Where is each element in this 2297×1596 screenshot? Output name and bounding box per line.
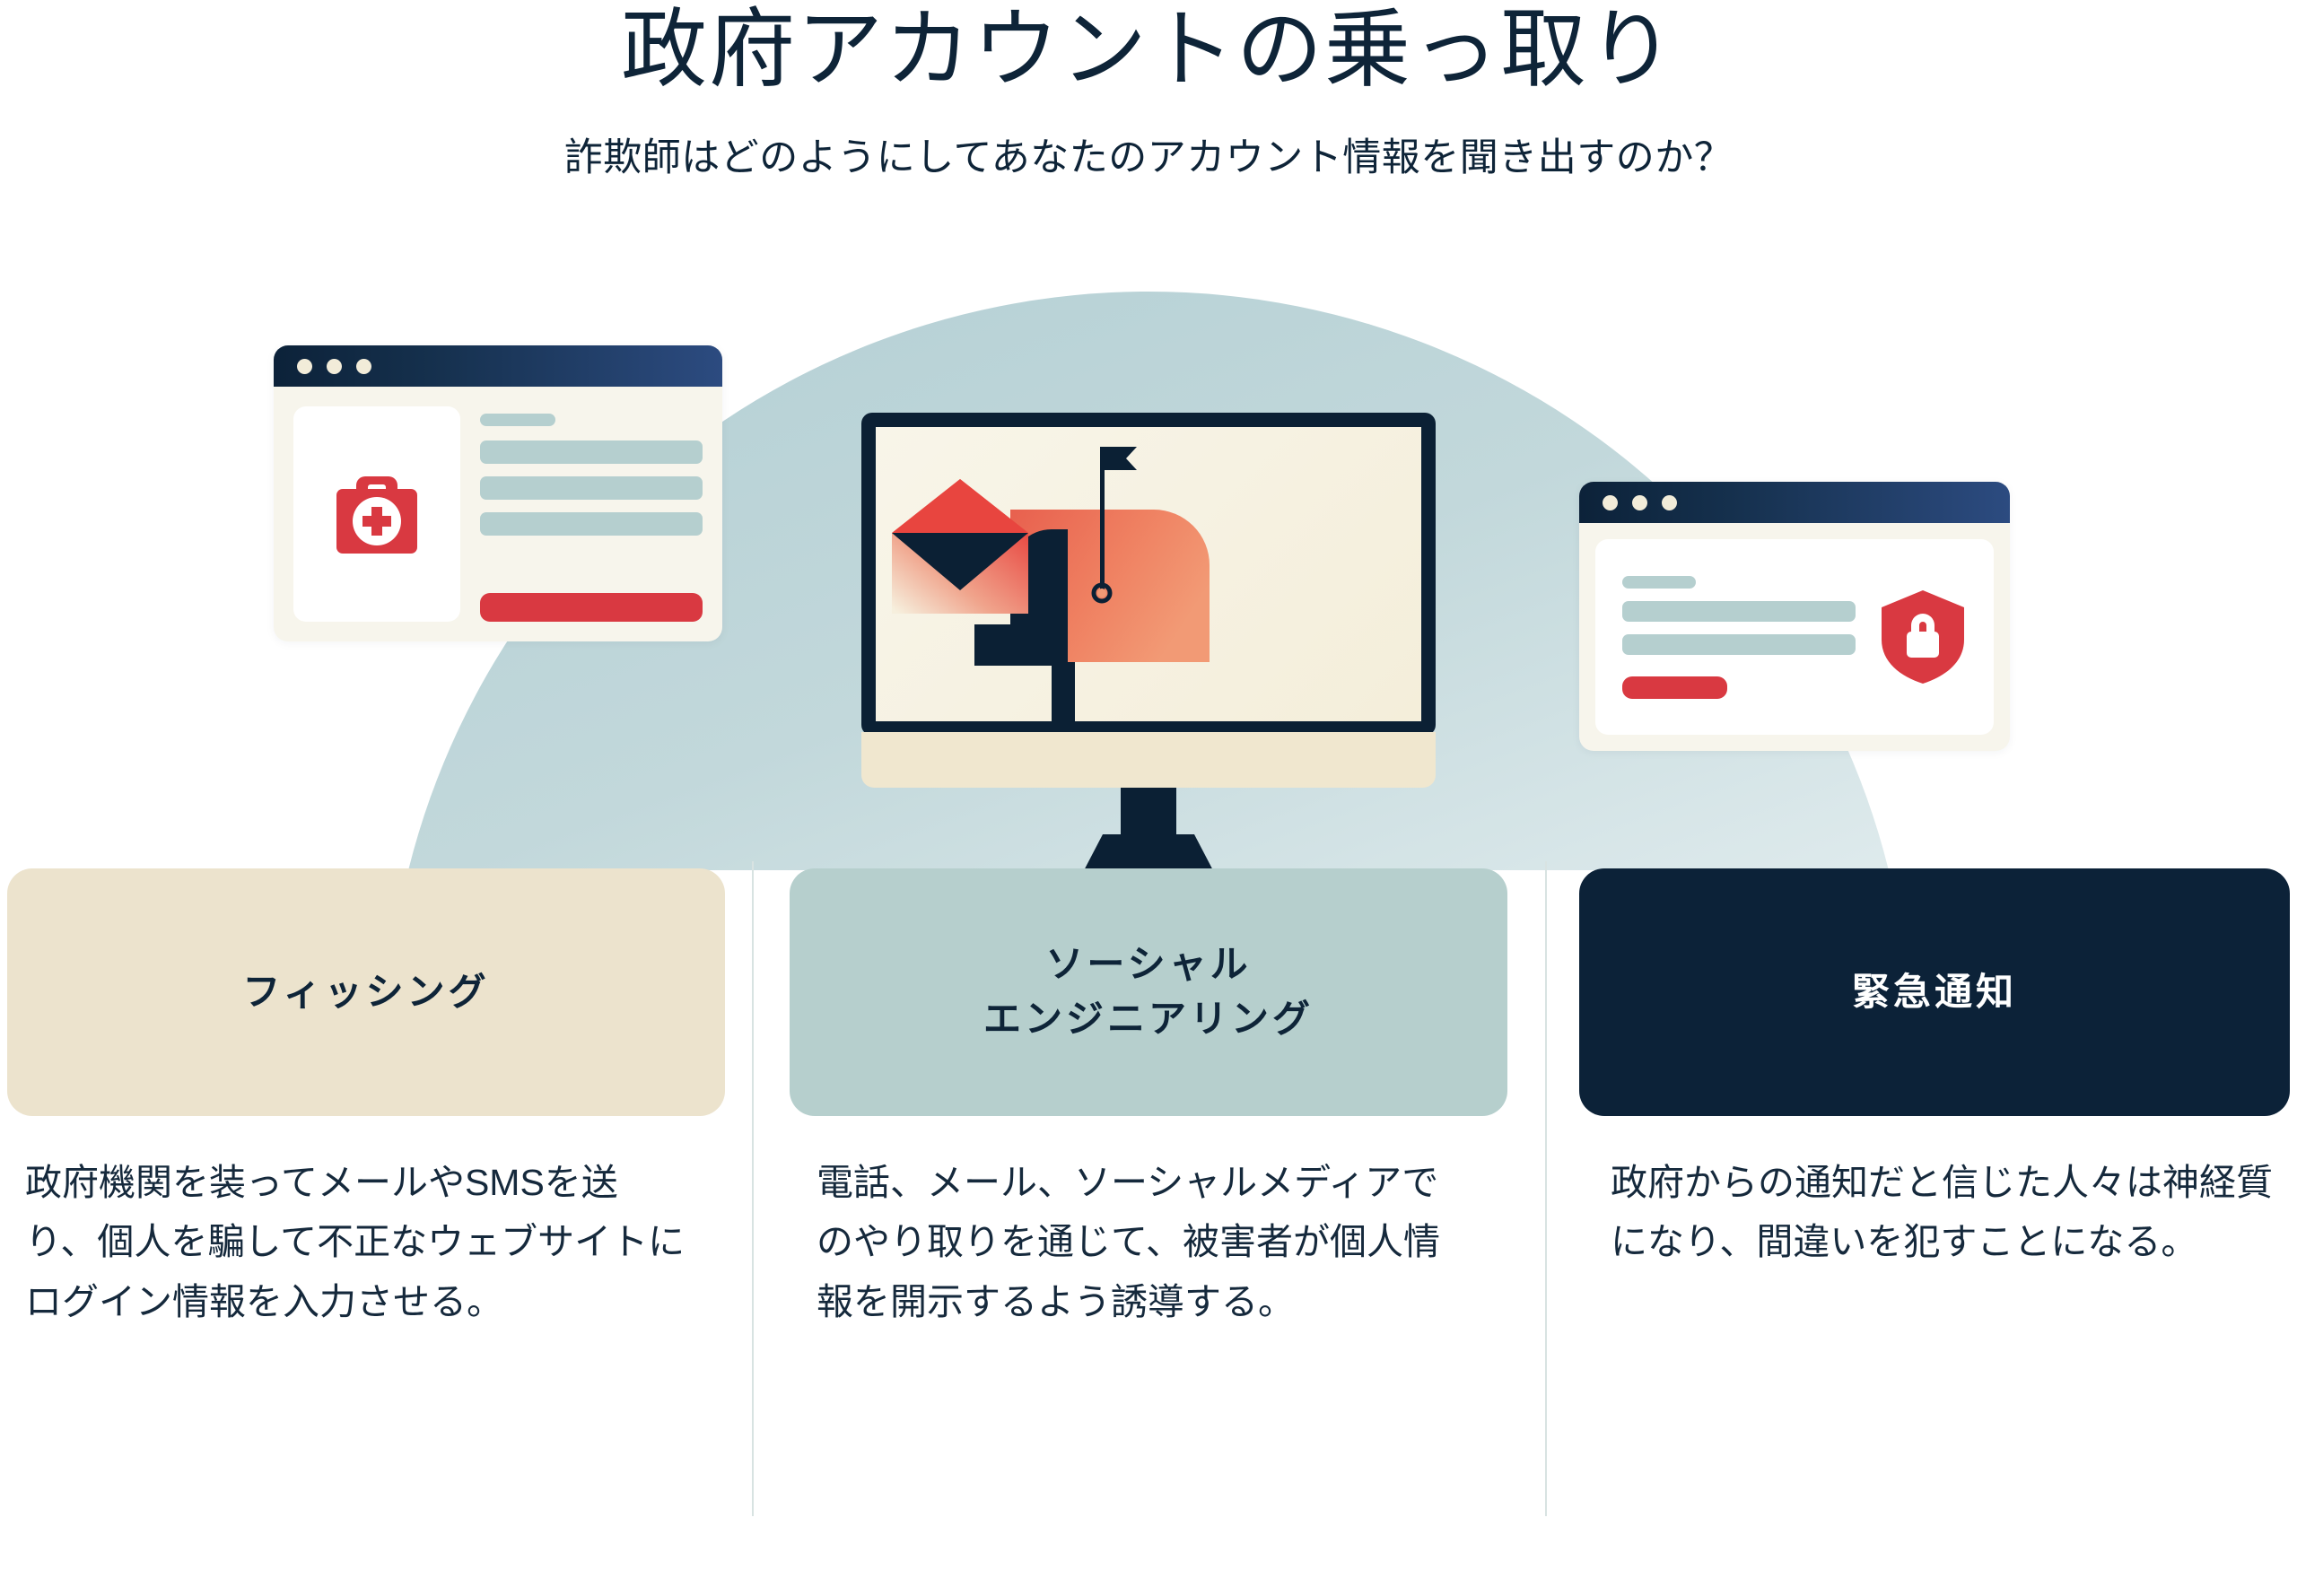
infographic-root: 政府アカウントの乗っ取り 詐欺師はどのようにしてあなたのアカウント情報を聞き出す… (0, 0, 2297, 1596)
descriptions-layer: 政府機関を装ってメールやSMSを送り、個人を騙して不正なウェブサイトにログイン情… (0, 0, 2297, 1596)
page-title: 政府アカウントの乗っ取り (0, 0, 2297, 96)
header: 政府アカウントの乗っ取り 詐欺師はどのようにしてあなたのアカウント情報を聞き出す… (0, 0, 2297, 182)
description-urgent-notice: 政府からの通知だと信じた人々は神経質になり、間違いを犯すことになる。 (1611, 1153, 2275, 1272)
description-social-engineering: 電話、メール、ソーシャルメディアでのやり取りを通じて、被害者が個人情報を開示する… (817, 1153, 1445, 1331)
page-subtitle: 詐欺師はどのようにしてあなたのアカウント情報を聞き出すのか？ (0, 126, 2297, 182)
description-phishing: 政府機関を装ってメールやSMSを送り、個人を騙して不正なウェブサイトにログイン情… (25, 1153, 689, 1331)
